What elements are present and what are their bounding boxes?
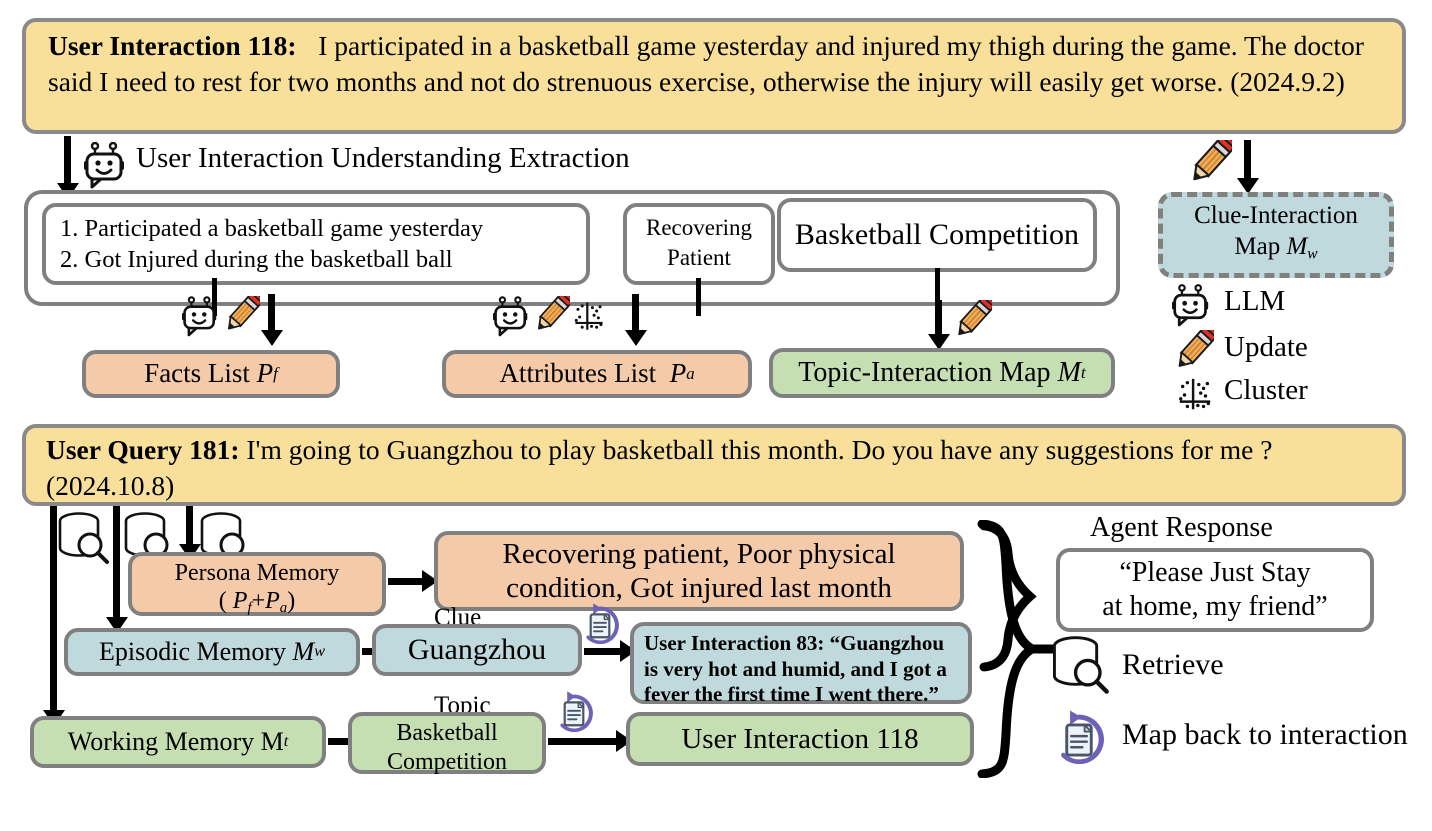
attribute-extracted-box: Recovering Patient bbox=[623, 203, 775, 285]
episodic-memory-symbol: M bbox=[293, 637, 315, 668]
extraction-title: User Interaction Understanding Extractio… bbox=[136, 142, 630, 175]
llm-robot-icon bbox=[84, 142, 126, 190]
tick-attributes bbox=[696, 278, 701, 316]
clue-result-box: User Interaction 83: “Guangzhou is very … bbox=[630, 622, 972, 704]
arrow-query-to-episodic-memory bbox=[113, 506, 120, 621]
facts-list-symbol: P bbox=[257, 358, 274, 390]
retrieve-db-search-icon bbox=[56, 512, 110, 566]
attribute-line-1: Recovering bbox=[627, 213, 771, 243]
persona-memory-label: Persona Memory bbox=[132, 559, 382, 587]
episodic-memory-box: Episodic Memory Mw bbox=[64, 628, 360, 676]
persona-memory-formula: ( Pf+Pa) bbox=[132, 587, 382, 618]
agent-response-box: “Please Just Stay at home, my friend” bbox=[1056, 548, 1374, 632]
arrow-head bbox=[261, 330, 283, 346]
facts-list-sub: f bbox=[273, 364, 278, 384]
topic-map-label: Topic-Interaction Map bbox=[798, 356, 1050, 389]
attribute-line-2: Patient bbox=[627, 243, 771, 273]
facts-line-2: 2. Got Injured during the basketball bal… bbox=[60, 244, 586, 275]
topic-value-line-1: Basketball bbox=[352, 719, 542, 748]
arrow-head bbox=[625, 330, 647, 346]
pencil-update-icon bbox=[532, 296, 570, 336]
attributes-list-box: Attributes List Pa bbox=[442, 350, 752, 398]
clue-result-text: User Interaction 83: “Guangzhou is very … bbox=[644, 631, 958, 708]
working-memory-box: Working Memory Mt bbox=[30, 716, 326, 768]
legend-retrieve-label: Retrieve bbox=[1122, 648, 1224, 682]
working-memory-sub: t bbox=[284, 732, 288, 751]
user-interaction-label: User Interaction 118: bbox=[48, 30, 296, 61]
arrow-to-topic-map bbox=[935, 300, 942, 338]
legend-cluster-label: Cluster bbox=[1224, 374, 1308, 407]
user-query-label: User Query 181: bbox=[46, 434, 239, 465]
persona-memory-box: Persona Memory ( Pf+Pa) bbox=[128, 552, 386, 616]
map-back-document-icon bbox=[1050, 706, 1108, 764]
agent-response-line-2: at home, my friend” bbox=[1060, 590, 1370, 624]
working-memory-symbol: M bbox=[261, 727, 284, 758]
agent-response-line-1: “Please Just Stay bbox=[1060, 556, 1370, 590]
map-back-document-icon bbox=[552, 688, 596, 732]
llm-robot-icon bbox=[1172, 284, 1210, 328]
facts-list-box: Facts List Pf bbox=[82, 350, 340, 398]
arrow-persona-to-result bbox=[388, 578, 424, 585]
cluster-icon bbox=[1176, 376, 1214, 414]
pencil-update-icon bbox=[222, 296, 260, 336]
cluster-icon bbox=[572, 300, 606, 334]
topic-value-line-2: Competition bbox=[352, 748, 542, 777]
episodic-memory-sub: w bbox=[314, 642, 325, 661]
arrow-topic-to-result bbox=[548, 738, 620, 745]
clue-map-line-1: Clue-Interaction bbox=[1163, 201, 1389, 232]
arrow-query-to-persona-memory bbox=[186, 506, 193, 548]
agent-response-title: Agent Response bbox=[1090, 512, 1273, 544]
facts-extracted-box: 1. Participated a basketball game yester… bbox=[42, 203, 590, 285]
clue-value-box: Guangzhou bbox=[372, 624, 582, 676]
arrow-interaction-to-extraction bbox=[64, 136, 71, 188]
pencil-update-icon bbox=[1172, 330, 1214, 374]
legend-mapback-label: Map back to interaction bbox=[1122, 718, 1408, 752]
episodic-memory-label: Episodic Memory bbox=[99, 637, 286, 668]
llm-robot-icon bbox=[493, 296, 529, 338]
topic-map-symbol: M bbox=[1058, 356, 1081, 389]
topic-map-sub: t bbox=[1081, 363, 1086, 383]
clue-map-sub: w bbox=[1307, 245, 1317, 262]
attributes-list-sub: a bbox=[686, 364, 694, 384]
topic-value-box: Basketball Competition bbox=[348, 712, 546, 774]
pencil-update-icon bbox=[1186, 140, 1232, 188]
user-query-box: User Query 181: I'm going to Guangzhou t… bbox=[22, 424, 1406, 506]
clue-map-symbol: M bbox=[1286, 233, 1307, 260]
clue-map-line-2: Map bbox=[1234, 233, 1280, 260]
legend-llm-label: LLM bbox=[1224, 285, 1285, 318]
legend-update-label: Update bbox=[1224, 331, 1308, 364]
attributes-list-symbol: P bbox=[670, 358, 687, 390]
facts-list-label: Facts List bbox=[144, 358, 250, 390]
working-memory-label: Working Memory bbox=[68, 727, 254, 758]
topic-result-box: User Interaction 118 bbox=[626, 712, 974, 766]
pencil-update-icon bbox=[952, 300, 992, 342]
topic-interaction-map-box: Topic-Interaction Map Mt bbox=[769, 348, 1115, 398]
arrow-clue-to-result bbox=[584, 648, 624, 655]
facts-line-1: 1. Participated a basketball game yester… bbox=[60, 213, 586, 244]
arrow-to-attributes-list bbox=[632, 294, 639, 334]
arrow-to-facts-list bbox=[268, 294, 275, 334]
clue-interaction-map-box: Clue-Interaction Map Mw bbox=[1158, 192, 1394, 278]
attributes-list-label: Attributes List bbox=[499, 358, 656, 390]
retrieve-db-search-icon bbox=[1050, 636, 1110, 696]
topic-extracted-box: Basketball Competition bbox=[777, 198, 1097, 272]
persona-result-box: Recovering patient, Poor physical condit… bbox=[434, 531, 964, 611]
llm-robot-icon bbox=[182, 296, 218, 338]
user-interaction-box: User Interaction 118: I participated in … bbox=[22, 18, 1406, 134]
map-back-document-icon bbox=[578, 600, 622, 644]
